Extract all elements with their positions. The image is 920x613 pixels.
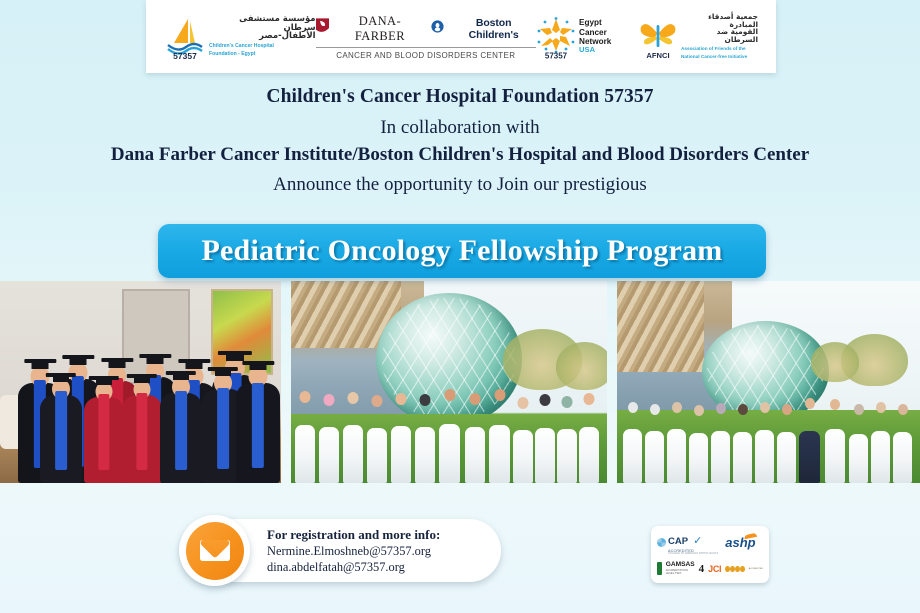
jci-prefix: 4 xyxy=(699,563,705,575)
cchf-english-line1: Children's Cancer Hospital xyxy=(209,43,316,49)
accreditation-seal-badge: ACCREDITED xyxy=(749,568,763,570)
contact-email-2[interactable]: dina.abdelfatah@57357.org xyxy=(267,559,440,575)
cchf-arabic-line2: الأطفال-مصر xyxy=(209,32,316,41)
email-icon-circle xyxy=(179,515,250,586)
svg-text:AFNCI: AFNCI xyxy=(646,51,669,59)
logo-cchf-57357: 57357 مؤسسة مستشفى سرطان الأطفال-مصر Chi… xyxy=(164,15,316,58)
cap-logo-icon xyxy=(657,538,666,547)
heading-partner: Dana Farber Cancer Institute/Boston Chil… xyxy=(0,144,920,166)
checkmark-icon: ✓ xyxy=(693,535,702,547)
cchf-arabic-line1: مؤسسة مستشفى سرطان xyxy=(209,15,316,32)
logo-dana-farber-boston-childrens: DANA-FARBER Boston Children's CANCER AND… xyxy=(316,14,536,60)
afnci-english-line2: National Cancer-free Initiative xyxy=(681,54,758,60)
heading-announce: Announce the opportunity to Join our pre… xyxy=(0,174,920,196)
dana-farber-subtitle: CANCER AND BLOOD DISORDERS CENTER xyxy=(316,47,536,60)
cchf-logo-text: مؤسسة مستشفى سرطان الأطفال-مصر Children'… xyxy=(209,15,316,58)
partner-logos-panel: 57357 مؤسسة مستشفى سرطان الأطفال-مصر Chi… xyxy=(146,0,776,73)
cap-title: CAP xyxy=(668,536,688,547)
ecn-logo-text: Egypt Cancer Network USA xyxy=(579,18,638,54)
gamsas-title: GAMSAS xyxy=(666,562,695,569)
contact-details: For registration and more info: Nermine.… xyxy=(267,526,440,576)
photo-strip xyxy=(0,281,920,483)
dana-farber-flag-icon xyxy=(316,18,329,40)
logo-afnci: AFNCI جمعية أصدقاء المبادرة القومية ضد ا… xyxy=(638,13,758,60)
afnci-arabic-line2: القومية ضد السرطان xyxy=(681,28,758,44)
contact-title: For registration and more info: xyxy=(267,526,440,543)
photo-graduation-group xyxy=(0,281,281,483)
jci-title: JCI xyxy=(708,564,721,574)
boston-childrens-shield-icon xyxy=(431,20,444,38)
dana-farber-name: DANA-FARBER xyxy=(336,14,425,44)
svg-text:57357: 57357 xyxy=(173,51,197,60)
afnci-logo-text: جمعية أصدقاء المبادرة القومية ضد السرطان… xyxy=(681,13,758,60)
program-title-text: Pediatric Oncology Fellowship Program xyxy=(202,234,723,268)
heading-organization: Children's Cancer Hospital Foundation 57… xyxy=(0,86,920,108)
program-title-banner: Pediatric Oncology Fellowship Program xyxy=(158,224,766,278)
gamsas-shield-icon xyxy=(657,562,662,575)
cchf-english-line2: Foundation - Egypt xyxy=(209,51,316,57)
ecn-line2: Cancer Network xyxy=(579,28,638,46)
seal-caption: ACCREDITED xyxy=(749,568,763,570)
contact-email-1[interactable]: Nermine.Elmoshneb@57357.org xyxy=(267,543,440,559)
photo-staff-hospital-dome xyxy=(291,281,607,483)
gamsas-badge: GAMSAS ACCREDITATION LEVEL TWO xyxy=(666,562,695,575)
ecn-line1: Egypt xyxy=(579,18,638,27)
ashp-badge: ashp xyxy=(725,535,755,550)
jci-chain-icon xyxy=(725,566,745,572)
logo-egypt-cancer-network: 57357 Egypt Cancer Network USA xyxy=(536,17,638,57)
envelope-icon xyxy=(186,522,244,580)
ecn-line3: USA xyxy=(579,46,638,55)
cap-fine-print: COLLEGE OF AMERICAN PATHOLOGISTS xyxy=(668,553,718,555)
ecn-star-icon: 57357 xyxy=(536,17,574,57)
accreditation-badges-box: CAP ✓ ACCREDITED COLLEGE OF AMERICAN PAT… xyxy=(651,526,769,583)
boston-childrens-name: Boston Children's xyxy=(451,17,536,41)
cchf-sail-icon: 57357 xyxy=(164,16,204,58)
gamsas-subtitle2: LEVEL TWO xyxy=(666,572,695,575)
svg-text:57357: 57357 xyxy=(545,51,568,59)
afnci-english-line1: Association of Friends of the xyxy=(681,46,758,52)
heading-collaboration: In collaboration with xyxy=(0,117,920,139)
afnci-arabic-line1: جمعية أصدقاء المبادرة xyxy=(681,13,758,29)
registration-contact-box[interactable]: For registration and more info: Nermine.… xyxy=(183,519,501,582)
afnci-butterfly-icon: AFNCI xyxy=(638,17,676,57)
cap-accredited-badge: CAP ✓ ACCREDITED COLLEGE OF AMERICAN PAT… xyxy=(657,531,718,555)
photo-fellowship-team-lawn xyxy=(617,281,920,483)
announcement-headings: Children's Cancer Hospital Foundation 57… xyxy=(0,86,920,196)
